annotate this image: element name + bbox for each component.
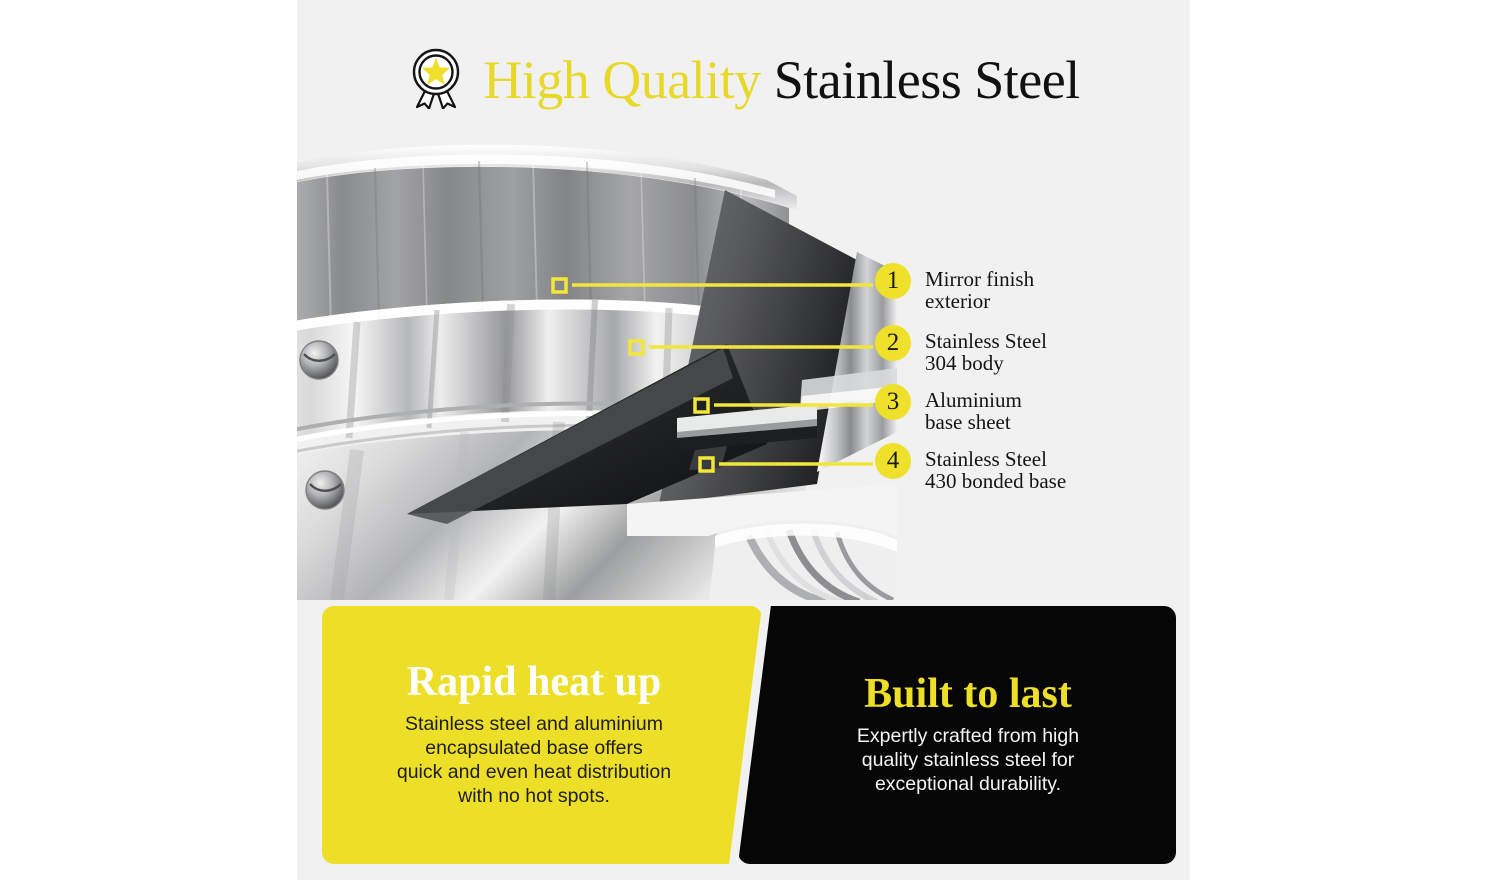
infographic-page: High Quality Stainless Steel: [0, 0, 1500, 880]
stainless-steel-pot-cutaway: [297, 132, 897, 600]
medal-award-icon: [407, 47, 465, 109]
page-title: High Quality Stainless Steel: [483, 53, 1079, 107]
callout-label-2: Stainless Steel 304 body: [925, 329, 1047, 374]
callout-badge-1: 1: [875, 263, 911, 299]
page-title-rest: Stainless Steel: [774, 50, 1080, 110]
callout-label-4: Stainless Steel 430 bonded base: [925, 447, 1066, 492]
panel-body-built-to-last: Expertly crafted from high quality stain…: [857, 725, 1079, 796]
page-title-highlight: High Quality: [483, 50, 760, 110]
panel-title-built-to-last: Built to last: [864, 673, 1072, 715]
callout-4: 4 Stainless Steel 430 bonded base: [875, 447, 1066, 492]
callout-label-3: Aluminium base sheet: [925, 388, 1022, 433]
panel-title-rapid-heat-up: Rapid heat up: [407, 661, 661, 703]
pot-illustration: [297, 132, 897, 600]
callout-2: 2 Stainless Steel 304 body: [875, 329, 1047, 374]
callout-badge-4: 4: [875, 443, 911, 479]
callout-label-1: Mirror finish exterior: [925, 267, 1034, 312]
feature-panel-rapid-heat-up: Rapid heat up Stainless steel and alumin…: [322, 606, 762, 864]
header: High Quality Stainless Steel: [297, 30, 1190, 130]
feature-panel-built-to-last: Built to last Expertly crafted from high…: [738, 606, 1176, 864]
callout-badge-2: 2: [875, 325, 911, 361]
callout-badge-3: 3: [875, 384, 911, 420]
callout-3: 3 Aluminium base sheet: [875, 388, 1022, 433]
callout-1: 1 Mirror finish exterior: [875, 267, 1034, 312]
panel-body-rapid-heat-up: Stainless steel and aluminium encapsulat…: [397, 713, 671, 808]
